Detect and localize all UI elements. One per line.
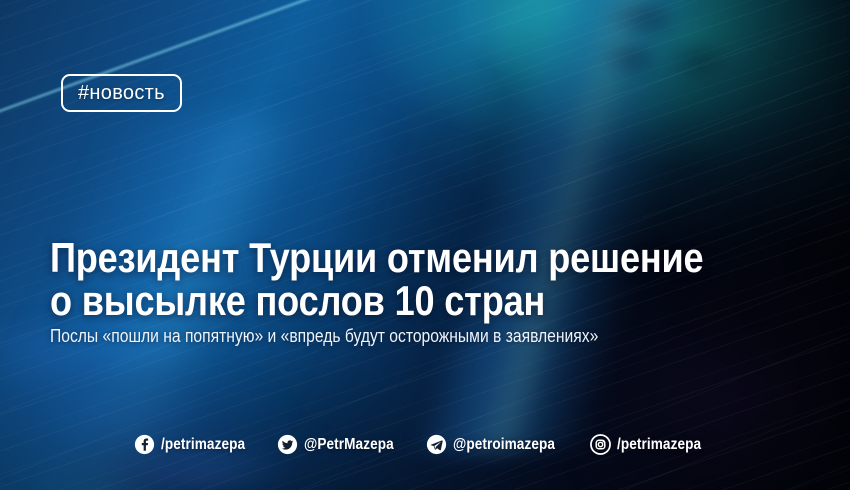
social-handle-twitter: @PetrMazepa (304, 434, 394, 455)
social-link-instagram[interactable]: /petrimazepa (590, 434, 716, 455)
social-handle-telegram: @petroimazepa (453, 434, 555, 455)
social-links-row: /petrimazepa @PetrMazepa @petroimazepa (0, 434, 850, 455)
social-handle-instagram: /petrimazepa (617, 434, 701, 455)
page-title: Президент Турции отменил решение о высыл… (50, 236, 704, 322)
subtitle: Послы «пошли на попятную» и «впредь буду… (50, 325, 737, 347)
news-card: #новость Президент Турции отменил решени… (0, 0, 850, 490)
social-link-telegram[interactable]: @petroimazepa (426, 434, 573, 455)
social-handle-facebook: /petrimazepa (161, 434, 245, 455)
social-link-facebook[interactable]: /petrimazepa (134, 434, 260, 455)
category-badge[interactable]: #новость (61, 74, 182, 112)
facebook-icon (134, 434, 155, 455)
twitter-icon (277, 434, 298, 455)
card-content: #новость Президент Турции отменил решени… (0, 0, 850, 490)
instagram-icon (590, 434, 611, 455)
social-link-twitter[interactable]: @PetrMazepa (277, 434, 410, 455)
telegram-icon (426, 434, 447, 455)
